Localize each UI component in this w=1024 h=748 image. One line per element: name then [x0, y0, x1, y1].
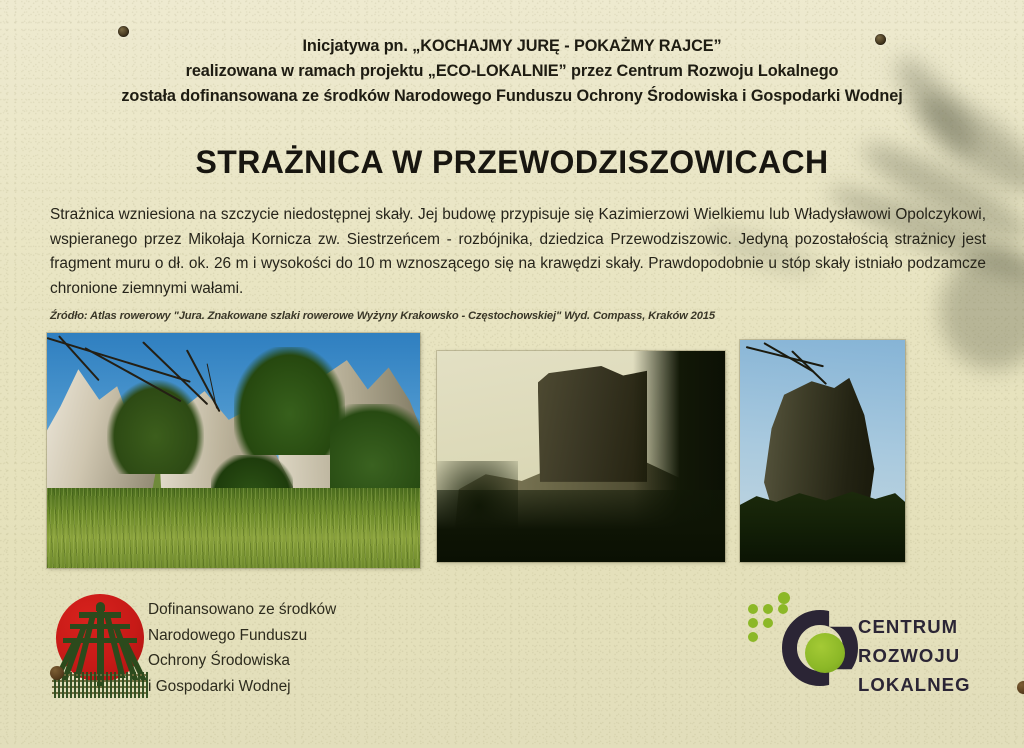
crl-line-1: CENTRUM	[858, 612, 1024, 641]
crl-line-3: LOKALNEG	[858, 670, 1024, 699]
nfosigw-line-4: i Gospodarki Wodnej	[148, 674, 418, 700]
nfosigw-logo-text: Dofinansowano ze środków Narodowego Fund…	[148, 597, 418, 699]
information-board: Inicjatywa pn. „KOCHAJMY JURĘ - POKAŻMY …	[0, 0, 1024, 748]
header-line-1: Inicjatywa pn. „KOCHAJMY JURĘ - POKAŻMY …	[0, 34, 1024, 59]
nfosigw-line-3: Ochrony Środowiska	[148, 648, 418, 674]
crl-logo-text: CENTRUM ROZWOJU LOKALNEG	[858, 612, 1024, 699]
header-block: Inicjatywa pn. „KOCHAJMY JURĘ - POKAŻMY …	[0, 34, 1024, 109]
body-text: Strażnica wzniesiona na szczycie niedost…	[50, 203, 986, 301]
centrum-rozwoju-lokalnego-icon	[748, 592, 856, 704]
page-title: STRAŻNICA W PRZEWODZISZOWICACH	[0, 144, 1024, 181]
nfosigw-tree-icon	[52, 594, 148, 700]
nfosigw-line-2: Narodowego Funduszu	[148, 623, 418, 649]
nfosigw-line-1: Dofinansowano ze środków	[148, 597, 418, 623]
source-citation: Źródło: Atlas rowerowy "Jura. Znakowane …	[50, 310, 750, 322]
header-line-3: została dofinansowana ze środków Narodow…	[0, 84, 1024, 109]
header-line-2: realizowana w ramach projektu „ECO-LOKAL…	[0, 59, 1024, 84]
limestone-cliffs-photo	[47, 333, 420, 568]
crl-line-3-text: LOKALNEG	[858, 674, 971, 695]
rock-tower-photo	[740, 340, 905, 562]
crl-line-2: ROZWOJU	[858, 641, 1024, 670]
watchtower-ruin-photo	[437, 351, 725, 562]
crl-dot-o-icon	[1017, 681, 1024, 694]
